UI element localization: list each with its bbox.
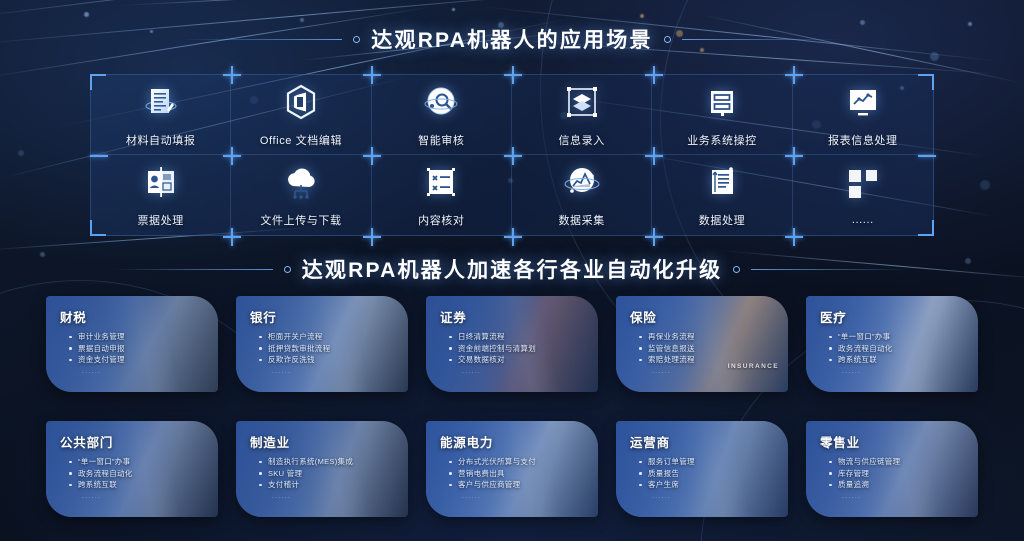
scenario-grid: 材料自动填报Office 文档编辑智能审核信息录入业务系统操控报表信息处理票据处… bbox=[91, 75, 933, 235]
card-body: 运营商服务订单管理质量报告客户生席...... bbox=[616, 421, 788, 517]
card-more-ellipsis: ...... bbox=[630, 493, 778, 500]
card-bullet: 库存管理 bbox=[838, 468, 968, 480]
scenario-cell[interactable]: 业务系统操控 bbox=[652, 75, 792, 155]
scenario-label: 智能审核 bbox=[418, 132, 464, 148]
chart-report-icon bbox=[843, 82, 883, 122]
scenario-cell[interactable]: 智能审核 bbox=[372, 75, 512, 155]
card-bullet: 监管信息报送 bbox=[648, 343, 778, 355]
scenario-label: 材料自动填报 bbox=[126, 132, 196, 148]
card-more-ellipsis: ...... bbox=[820, 368, 968, 375]
industries-title-row: 达观RPA机器人加速各行各业自动化升级 bbox=[0, 254, 1024, 284]
card-bullet-list: “单一窗口”办事政务流程自动化跨系统互联 bbox=[60, 456, 208, 491]
industry-card[interactable]: 能源电力分布式光伏所算与支付营销电费出具客户与供应商管理...... bbox=[426, 421, 598, 517]
industry-card[interactable]: 医疗“单一窗口”办事政务流程自动化跨系统互联...... bbox=[806, 296, 978, 392]
scenario-cell[interactable]: 材料自动填报 bbox=[91, 75, 231, 155]
card-bullet: 制造执行系统(MES)集成 bbox=[268, 456, 398, 468]
card-bullet-list: 审计业务管理票据自动申报资金支付管理 bbox=[60, 331, 208, 366]
scenario-label: 数据处理 bbox=[699, 212, 745, 228]
industry-cards-row-top: 财税审计业务管理票据自动申报资金支付管理......银行柜面开关户流程抵押贷款审… bbox=[0, 296, 1024, 392]
scenario-label: 文件上传与下载 bbox=[260, 212, 341, 228]
card-more-ellipsis: ...... bbox=[820, 493, 968, 500]
card-bullet: “单一窗口”办事 bbox=[838, 331, 968, 343]
card-more-ellipsis: ...... bbox=[250, 368, 398, 375]
scenario-label: 报表信息处理 bbox=[828, 132, 898, 148]
scenario-cell[interactable]: 文件上传与下载 bbox=[231, 155, 371, 235]
bokeh-particle bbox=[300, 18, 304, 22]
bokeh-particle bbox=[640, 14, 644, 18]
card-body: 制造业制造执行系统(MES)集成SKU 管理支付稽计...... bbox=[236, 421, 408, 517]
card-more-ellipsis: ...... bbox=[630, 368, 778, 375]
scenario-cell[interactable]: 报表信息处理 bbox=[793, 75, 933, 155]
card-bullet: 反欺诈反洗钱 bbox=[268, 354, 398, 366]
title-dot-right bbox=[664, 36, 671, 43]
scenario-label: 数据采集 bbox=[558, 212, 604, 228]
scenario-label: 票据处理 bbox=[137, 212, 183, 228]
card-bullet: SKU 管理 bbox=[268, 468, 398, 480]
scenario-cell[interactable]: 内容核对 bbox=[372, 155, 512, 235]
cloud-transfer-icon bbox=[281, 162, 321, 202]
scenario-grid-panel: 材料自动填报Office 文档编辑智能审核信息录入业务系统操控报表信息处理票据处… bbox=[90, 74, 934, 236]
grid-intersection-accent bbox=[645, 236, 663, 238]
industry-cards-row-bottom: 公共部门“单一窗口”办事政务流程自动化跨系统互联......制造业制造执行系统(… bbox=[0, 421, 1024, 517]
card-bullet: 质量追溯 bbox=[838, 479, 968, 491]
card-bullet-list: 日终清算流程资金前端控制与清算划交易数据核对 bbox=[440, 331, 588, 366]
card-bullet: 抵押贷款审批流程 bbox=[268, 343, 398, 355]
card-bullet: 资金支付管理 bbox=[78, 354, 208, 366]
card-bullet: 政务流程自动化 bbox=[838, 343, 968, 355]
card-bullet: 索赔处理流程 bbox=[648, 354, 778, 366]
grid-squares-icon bbox=[843, 164, 883, 204]
layers-frame-icon bbox=[562, 82, 602, 122]
card-title: 保险 bbox=[630, 307, 778, 326]
card-title: 零售业 bbox=[820, 432, 968, 451]
document-sort-icon bbox=[702, 162, 742, 202]
card-bullet-list: 服务订单管理质量报告客户生席 bbox=[630, 456, 778, 491]
card-body: 公共部门“单一窗口”办事政务流程自动化跨系统互联...... bbox=[46, 421, 218, 517]
magnifier-circle-icon bbox=[421, 82, 461, 122]
title2-dot-right bbox=[733, 266, 740, 273]
slide-canvas: 达观RPA机器人的应用场景 材料自动填报Office 文档编辑智能审核信息录入业… bbox=[0, 0, 1024, 541]
card-bullet: 再保业务流程 bbox=[648, 331, 778, 343]
card-more-ellipsis: ...... bbox=[60, 368, 208, 375]
card-bullet-list: “单一窗口”办事政务流程自动化跨系统互联 bbox=[820, 331, 968, 366]
document-pen-icon bbox=[141, 82, 181, 122]
industry-card[interactable]: 证券日终清算流程资金前端控制与清算划交易数据核对...... bbox=[426, 296, 598, 392]
card-more-ellipsis: ...... bbox=[440, 368, 588, 375]
title-dot-left bbox=[353, 36, 360, 43]
card-title: 公共部门 bbox=[60, 432, 208, 451]
card-body: 银行柜面开关户流程抵押贷款审批流程反欺诈反洗钱...... bbox=[236, 296, 408, 392]
card-body: 财税审计业务管理票据自动申报资金支付管理...... bbox=[46, 296, 218, 392]
card-title: 运营商 bbox=[630, 432, 778, 451]
title2-rule-left bbox=[113, 269, 273, 270]
card-bullet: 跨系统互联 bbox=[838, 354, 968, 366]
grid-intersection-accent bbox=[785, 236, 803, 238]
card-bullet: 营销电费出具 bbox=[458, 468, 588, 480]
industry-card[interactable]: 制造业制造执行系统(MES)集成SKU 管理支付稽计...... bbox=[236, 421, 408, 517]
card-body: 零售业物流与供应链管理库存管理质量追溯...... bbox=[806, 421, 978, 517]
industry-card[interactable]: INSURANCE保险再保业务流程监管信息报送索赔处理流程...... bbox=[616, 296, 788, 392]
industries-title: 达观RPA机器人加速各行各业自动化升级 bbox=[302, 254, 723, 284]
card-bullet: 客户与供应商管理 bbox=[458, 479, 588, 491]
card-title: 制造业 bbox=[250, 432, 398, 451]
id-card-icon bbox=[141, 162, 181, 202]
card-bullet: 物流与供应链管理 bbox=[838, 456, 968, 468]
card-bullet: 质量报告 bbox=[648, 468, 778, 480]
scenario-cell[interactable]: 数据处理 bbox=[652, 155, 792, 235]
bokeh-particle bbox=[452, 8, 455, 11]
checklist-cross-icon bbox=[421, 162, 461, 202]
light-streak bbox=[0, 0, 476, 19]
industry-card[interactable]: 公共部门“单一窗口”办事政务流程自动化跨系统互联...... bbox=[46, 421, 218, 517]
card-body: 保险再保业务流程监管信息报送索赔处理流程...... bbox=[616, 296, 788, 392]
scenario-label: Office 文档编辑 bbox=[260, 132, 342, 148]
scenario-cell[interactable]: ...... bbox=[793, 155, 933, 235]
card-bullet-list: 物流与供应链管理库存管理质量追溯 bbox=[820, 456, 968, 491]
scenarios-title: 达观RPA机器人的应用场景 bbox=[371, 24, 652, 54]
scenarios-title-row: 达观RPA机器人的应用场景 bbox=[0, 24, 1024, 54]
card-more-ellipsis: ...... bbox=[440, 493, 588, 500]
card-bullet: 票据自动申报 bbox=[78, 343, 208, 355]
card-title: 银行 bbox=[250, 307, 398, 326]
scenario-label: 信息录入 bbox=[558, 132, 604, 148]
bokeh-particle bbox=[84, 12, 89, 17]
globe-chart-icon bbox=[562, 162, 602, 202]
office-hexagon-icon bbox=[281, 82, 321, 122]
title2-dot-left bbox=[284, 266, 291, 273]
card-more-ellipsis: ...... bbox=[250, 493, 398, 500]
title2-rule-right bbox=[751, 269, 911, 270]
scenario-cell[interactable]: 票据处理 bbox=[91, 155, 231, 235]
card-bullet: 审计业务管理 bbox=[78, 331, 208, 343]
card-bullet: 交易数据核对 bbox=[458, 354, 588, 366]
scenario-label: ...... bbox=[852, 214, 874, 226]
grid-intersection-accent bbox=[223, 236, 241, 238]
card-bullet-list: 柜面开关户流程抵押贷款审批流程反欺诈反洗钱 bbox=[250, 331, 398, 366]
card-title: 医疗 bbox=[820, 307, 968, 326]
title-rule-left bbox=[182, 39, 342, 40]
card-title: 财税 bbox=[60, 307, 208, 326]
card-bullet: 日终清算流程 bbox=[458, 331, 588, 343]
industry-card[interactable]: 运营商服务订单管理质量报告客户生席...... bbox=[616, 421, 788, 517]
grid-intersection-accent bbox=[363, 236, 381, 238]
industry-card[interactable]: 银行柜面开关户流程抵押贷款审批流程反欺诈反洗钱...... bbox=[236, 296, 408, 392]
card-bullet: 分布式光伏所算与支付 bbox=[458, 456, 588, 468]
bokeh-particle bbox=[980, 180, 990, 190]
light-streak bbox=[120, 0, 420, 6]
card-bullet: “单一窗口”办事 bbox=[78, 456, 208, 468]
scenario-cell[interactable]: 信息录入 bbox=[512, 75, 652, 155]
card-bullet: 资金前端控制与清算划 bbox=[458, 343, 588, 355]
card-bullet-list: 分布式光伏所算与支付营销电费出具客户与供应商管理 bbox=[440, 456, 588, 491]
grid-intersection-accent bbox=[504, 236, 522, 238]
card-body: 证券日终清算流程资金前端控制与清算划交易数据核对...... bbox=[426, 296, 598, 392]
card-bullet: 柜面开关户流程 bbox=[268, 331, 398, 343]
title-rule-right bbox=[682, 39, 842, 40]
industry-card[interactable]: 零售业物流与供应链管理库存管理质量追溯...... bbox=[806, 421, 978, 517]
card-bullet-list: 再保业务流程监管信息报送索赔处理流程 bbox=[630, 331, 778, 366]
card-bullet: 支付稽计 bbox=[268, 479, 398, 491]
server-stack-icon bbox=[702, 82, 742, 122]
card-bullet: 跨系统互联 bbox=[78, 479, 208, 491]
scenario-label: 内容核对 bbox=[418, 212, 464, 228]
bokeh-particle bbox=[18, 150, 24, 156]
card-bullet: 服务订单管理 bbox=[648, 456, 778, 468]
card-more-ellipsis: ...... bbox=[60, 493, 208, 500]
card-title: 证券 bbox=[440, 307, 588, 326]
card-title: 能源电力 bbox=[440, 432, 588, 451]
card-body: 能源电力分布式光伏所算与支付营销电费出具客户与供应商管理...... bbox=[426, 421, 598, 517]
industry-card[interactable]: 财税审计业务管理票据自动申报资金支付管理...... bbox=[46, 296, 218, 392]
scenario-label: 业务系统操控 bbox=[687, 132, 757, 148]
card-body: 医疗“单一窗口”办事政务流程自动化跨系统互联...... bbox=[806, 296, 978, 392]
card-bullet-list: 制造执行系统(MES)集成SKU 管理支付稽计 bbox=[250, 456, 398, 491]
card-bullet: 客户生席 bbox=[648, 479, 778, 491]
scenario-cell[interactable]: 数据采集 bbox=[512, 155, 652, 235]
scenario-cell[interactable]: Office 文档编辑 bbox=[231, 75, 371, 155]
card-bullet: 政务流程自动化 bbox=[78, 468, 208, 480]
